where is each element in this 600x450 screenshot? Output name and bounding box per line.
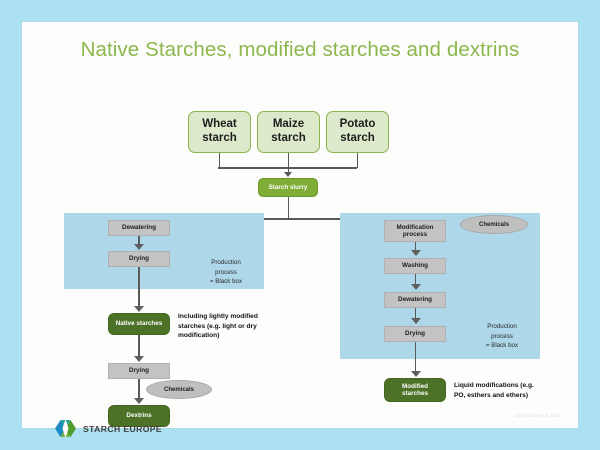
ellipse-chemicals-modified[interactable]: Chemicals [460,215,528,234]
connector-wheat-stem [219,153,221,168]
arrow-native-drying [134,244,144,250]
node-wheat-starch[interactable]: Wheat starch [188,111,251,153]
ellipse-label: Chemicals [479,222,509,228]
node-label: Drying [129,255,149,262]
node-native-dewatering[interactable]: Dewatering [108,220,170,236]
node-starch-slurry[interactable]: Starch slurry [258,178,318,197]
node-label-line-1: Modification [396,224,433,231]
arrow-into-dextrins [134,398,144,404]
connector-slurry-stem [288,197,290,219]
node-label: Dewatering [122,224,156,231]
node-label: Wheat starch [189,118,250,145]
node-label: Dewatering [398,296,432,303]
starch-europe-logo[interactable]: STARCH EUROPE [54,418,162,439]
label-native-blackbox: Production process = Black box [196,258,256,287]
node-washing[interactable]: Washing [384,258,446,274]
blackbox-line-1: Production [472,322,532,332]
node-native-starches[interactable]: Native starches [108,313,170,335]
arrow-into-modified-dewatering [411,284,421,290]
arrow-into-modified-starches [411,371,421,377]
node-post-drying[interactable]: Drying [108,363,170,379]
arrow-into-native-starches [134,306,144,312]
note-line-2: starches (e.g. light or dry [178,322,288,332]
arrow-into-washing [411,250,421,256]
note-line-2: PO, esthers and ethers) [454,391,566,401]
blackbox-line-3: = Black box [472,341,532,351]
note-line-1: Liquid modifications (e.g. [454,381,566,391]
blackbox-line-2: process [472,332,532,342]
node-modification-process[interactable]: Modification process [384,220,446,242]
note-line-1: Including lightly modified [178,312,288,322]
node-label-line-2: starches [402,390,428,397]
connector-potato-stem [357,153,359,168]
page-title: Native Starches, modified starches and d… [22,38,578,62]
node-maize-starch[interactable]: Maize starch [257,111,320,153]
note-line-3: modification) [178,331,288,341]
blackbox-line-1: Production [196,258,256,268]
arrow-into-modified-drying [411,318,421,324]
starch-europe-mark-icon [54,418,77,439]
node-label: Maize starch [258,118,319,145]
slide-canvas: Native Starches, modified starches and d… [22,22,578,428]
node-modified-starches[interactable]: Modified starches [384,378,446,402]
ellipse-label: Chemicals [164,387,194,393]
node-label-line-1: Modified [402,383,428,390]
logo-wordmark: STARCH EUROPE [83,424,162,434]
ellipse-chemicals-native[interactable]: Chemicals [146,380,212,399]
footer-copyright: Starch Europe © 2014 [514,413,560,418]
arrow-into-post-drying [134,356,144,362]
connector-native-panel-exit [138,267,140,309]
node-label: Drying [129,367,149,374]
blackbox-line-2: process [196,268,256,278]
node-label: Washing [402,262,428,269]
node-label: Starch slurry [269,184,308,191]
node-potato-starch[interactable]: Potato starch [326,111,389,153]
connector-maize-stem [288,153,290,168]
node-modified-drying[interactable]: Drying [384,326,446,342]
blackbox-line-3: = Black box [196,277,256,287]
node-modified-dewatering[interactable]: Dewatering [384,292,446,308]
node-native-drying[interactable]: Drying [108,251,170,267]
connector-modified-panel-exit [415,342,417,374]
note-native-starches: Including lightly modified starches (e.g… [178,312,288,341]
node-label: Potato starch [327,118,388,145]
node-label: Native starches [116,320,163,327]
node-label: Drying [405,330,425,337]
label-modified-blackbox: Production process = Black box [472,322,532,351]
node-label-line-2: process [403,231,427,238]
note-modified-starches: Liquid modifications (e.g. PO, esthers a… [454,381,566,400]
arrow-into-slurry [284,172,292,177]
